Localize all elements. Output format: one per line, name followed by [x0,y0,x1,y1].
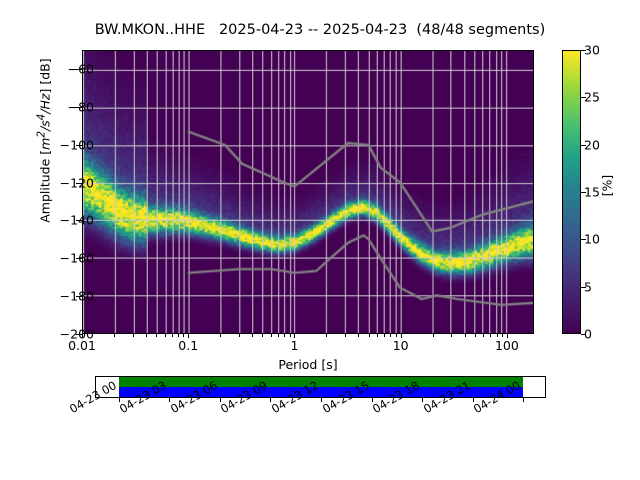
x-axis-tick-label: 100 [495,338,519,353]
x-axis-tick-mark [172,334,173,337]
page-title: BW.MKON..HHE 2025-04-23 -- 2025-04-23 (4… [0,22,640,38]
y-axis-tick-mark [76,69,82,70]
x-axis-tick-mark [178,334,179,337]
x-axis-tick-label: 10 [393,338,409,353]
x-axis-tick-mark [290,334,291,337]
colorbar-tick-label: 30 [584,43,600,58]
x-axis-tick-mark [239,334,240,337]
x-axis-tick-mark [114,334,115,337]
x-axis-tick-mark [507,334,508,338]
x-axis-tick-mark [294,334,295,338]
colorbar-tick-mark [581,239,586,240]
colorbar-tick-label: 20 [584,137,600,152]
colorbar-tick-mark [581,192,586,193]
x-axis-tick-mark [165,334,166,337]
x-axis-tick-mark [156,334,157,337]
x-axis-tick-mark [82,334,83,338]
x-axis-tick-mark [358,334,359,337]
x-axis-tick-mark [345,334,346,337]
y-axis-label: Amplitude [m2/s4/Hz] [dB] [35,21,52,261]
x-axis-tick-mark [262,334,263,337]
noise-model-curves [83,51,533,333]
x-axis-tick-mark [278,334,279,337]
y-axis-tick-mark [76,107,82,108]
x-axis-tick-mark [497,334,498,337]
colorbar-tick-mark [581,287,586,288]
colorbar-tick-label: 10 [584,232,600,247]
x-axis-tick-mark [465,334,466,337]
x-axis-tick-mark [133,334,134,337]
x-axis-tick-mark [475,334,476,337]
x-axis-tick-mark [401,334,402,338]
timeline-tick-mark [321,398,322,402]
y-axis-tick-mark [76,258,82,259]
colorbar-label: [%] [600,156,615,216]
x-axis-tick-mark [483,334,484,337]
x-axis-tick-mark [271,334,272,337]
timeline-tick-mark [523,398,524,402]
ppsd-figure: BW.MKON..HHE 2025-04-23 -- 2025-04-23 (4… [0,0,640,480]
ppsd-plot-area[interactable] [82,50,534,334]
x-axis-tick-mark [384,334,385,337]
colorbar-tick-mark [581,50,586,51]
x-axis-tick-mark [188,334,189,338]
colorbar-tick-mark [581,334,586,335]
x-axis-tick-mark [369,334,370,337]
x-axis-tick-mark [220,334,221,337]
x-axis-tick-mark [326,334,327,337]
colorbar [562,50,581,334]
x-axis-tick-mark [396,334,397,337]
x-axis-tick-mark [284,334,285,337]
colorbar-tick-mark [581,145,586,146]
x-axis-tick-label: 0.1 [178,338,198,353]
x-axis-tick-mark [146,334,147,337]
x-axis-tick-label: 1 [290,338,298,353]
x-axis-tick-mark [183,334,184,337]
x-axis-tick-mark [377,334,378,337]
y-axis-tick-mark [76,296,82,297]
x-axis-tick-label: 0.01 [68,338,96,353]
colorbar-tick-label: 25 [584,90,600,105]
x-axis-tick-mark [502,334,503,337]
y-axis-tick-mark [76,183,82,184]
y-axis-tick-mark [76,220,82,221]
colorbar-tick-mark [581,97,586,98]
x-axis-label: Period [s] [82,357,534,372]
x-axis-tick-mark [390,334,391,337]
x-axis-tick-mark [252,334,253,337]
x-axis-tick-mark [451,334,452,337]
x-axis-tick-mark [433,334,434,337]
x-axis-tick-mark [490,334,491,337]
colorbar-tick-label: 15 [584,185,600,200]
y-axis-tick-mark [76,145,82,146]
